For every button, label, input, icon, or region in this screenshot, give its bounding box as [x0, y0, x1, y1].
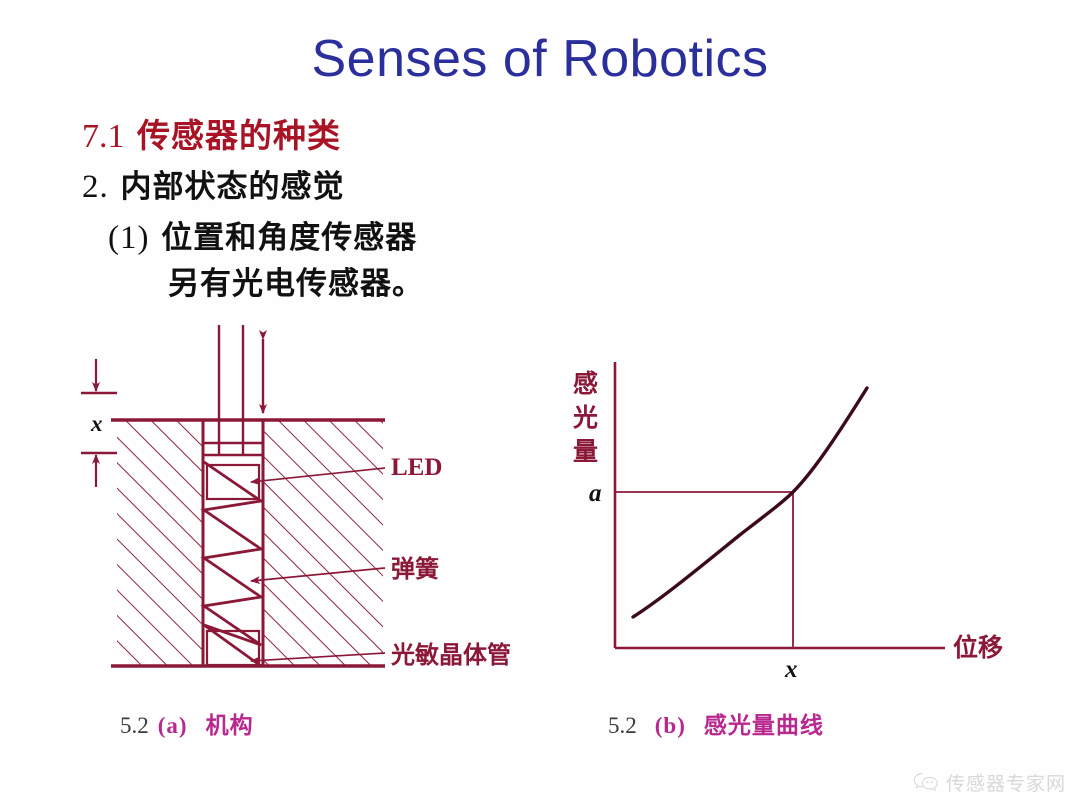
- section-number: 7.1: [82, 118, 125, 155]
- sub-note: 另有光电传感器。: [82, 264, 702, 305]
- sub-heading: (1) 位置和角度传感器: [82, 217, 702, 261]
- svg-text:感: 感: [573, 369, 598, 398]
- section-title: 传感器的种类: [137, 116, 341, 155]
- y-axis-label: 感 光 量: [572, 369, 598, 466]
- sub-number: (1): [108, 220, 149, 256]
- figure-mechanism: x LED 弹簧 光敏晶体管: [55, 325, 555, 700]
- heading-block: 7.1 传感器的种类 2. 内部状态的感觉 (1) 位置和角度传感器 另有光电传…: [82, 117, 702, 305]
- phototransistor-label: 光敏晶体管: [390, 641, 511, 669]
- sub-title: 位置和角度传感器: [161, 220, 417, 256]
- figure-response-curve: 感 光 量 位移 a x: [545, 350, 1025, 700]
- caption-a-letter: (a): [158, 713, 188, 738]
- spring-label: 弹簧: [391, 555, 439, 583]
- watermark-text: 传感器专家网: [946, 769, 1066, 796]
- item-number: 2.: [82, 169, 109, 205]
- caption-b-letter: (b): [655, 713, 686, 738]
- page-title: Senses of Robotics: [0, 32, 1080, 87]
- caption-b-text: 感光量曲线: [704, 713, 824, 739]
- housing-hatched-left: [117, 420, 203, 666]
- watermark: 传感器专家网: [913, 769, 1066, 796]
- spring-zigzag: [204, 462, 261, 666]
- svg-text:量: 量: [573, 437, 598, 466]
- section-heading: 7.1 传感器的种类: [82, 117, 702, 157]
- dimension-x-label: x: [90, 411, 103, 436]
- housing-hatched-right: [263, 420, 383, 666]
- caption-figure-a: 5.2 (a) 机构: [120, 706, 254, 740]
- caption-figure-b: 5.2 (b) 感光量曲线: [608, 706, 824, 740]
- item-title: 内部状态的感觉: [121, 169, 345, 205]
- x-axis-label: 位移: [953, 633, 1003, 662]
- item-heading: 2. 内部状态的感觉: [82, 166, 702, 210]
- caption-b-number: 5.2: [608, 713, 637, 738]
- caption-a-number: 5.2: [120, 713, 149, 738]
- plunger-rod: [203, 325, 263, 455]
- response-curve: [633, 388, 867, 617]
- y-marker-label: a: [589, 480, 602, 507]
- led-label: LED: [391, 454, 442, 481]
- dimension-x: x: [81, 359, 117, 487]
- x-marker-label: x: [784, 656, 798, 683]
- wechat-icon: [913, 772, 939, 794]
- caption-a-text: 机构: [206, 713, 254, 739]
- svg-text:光: 光: [572, 403, 598, 432]
